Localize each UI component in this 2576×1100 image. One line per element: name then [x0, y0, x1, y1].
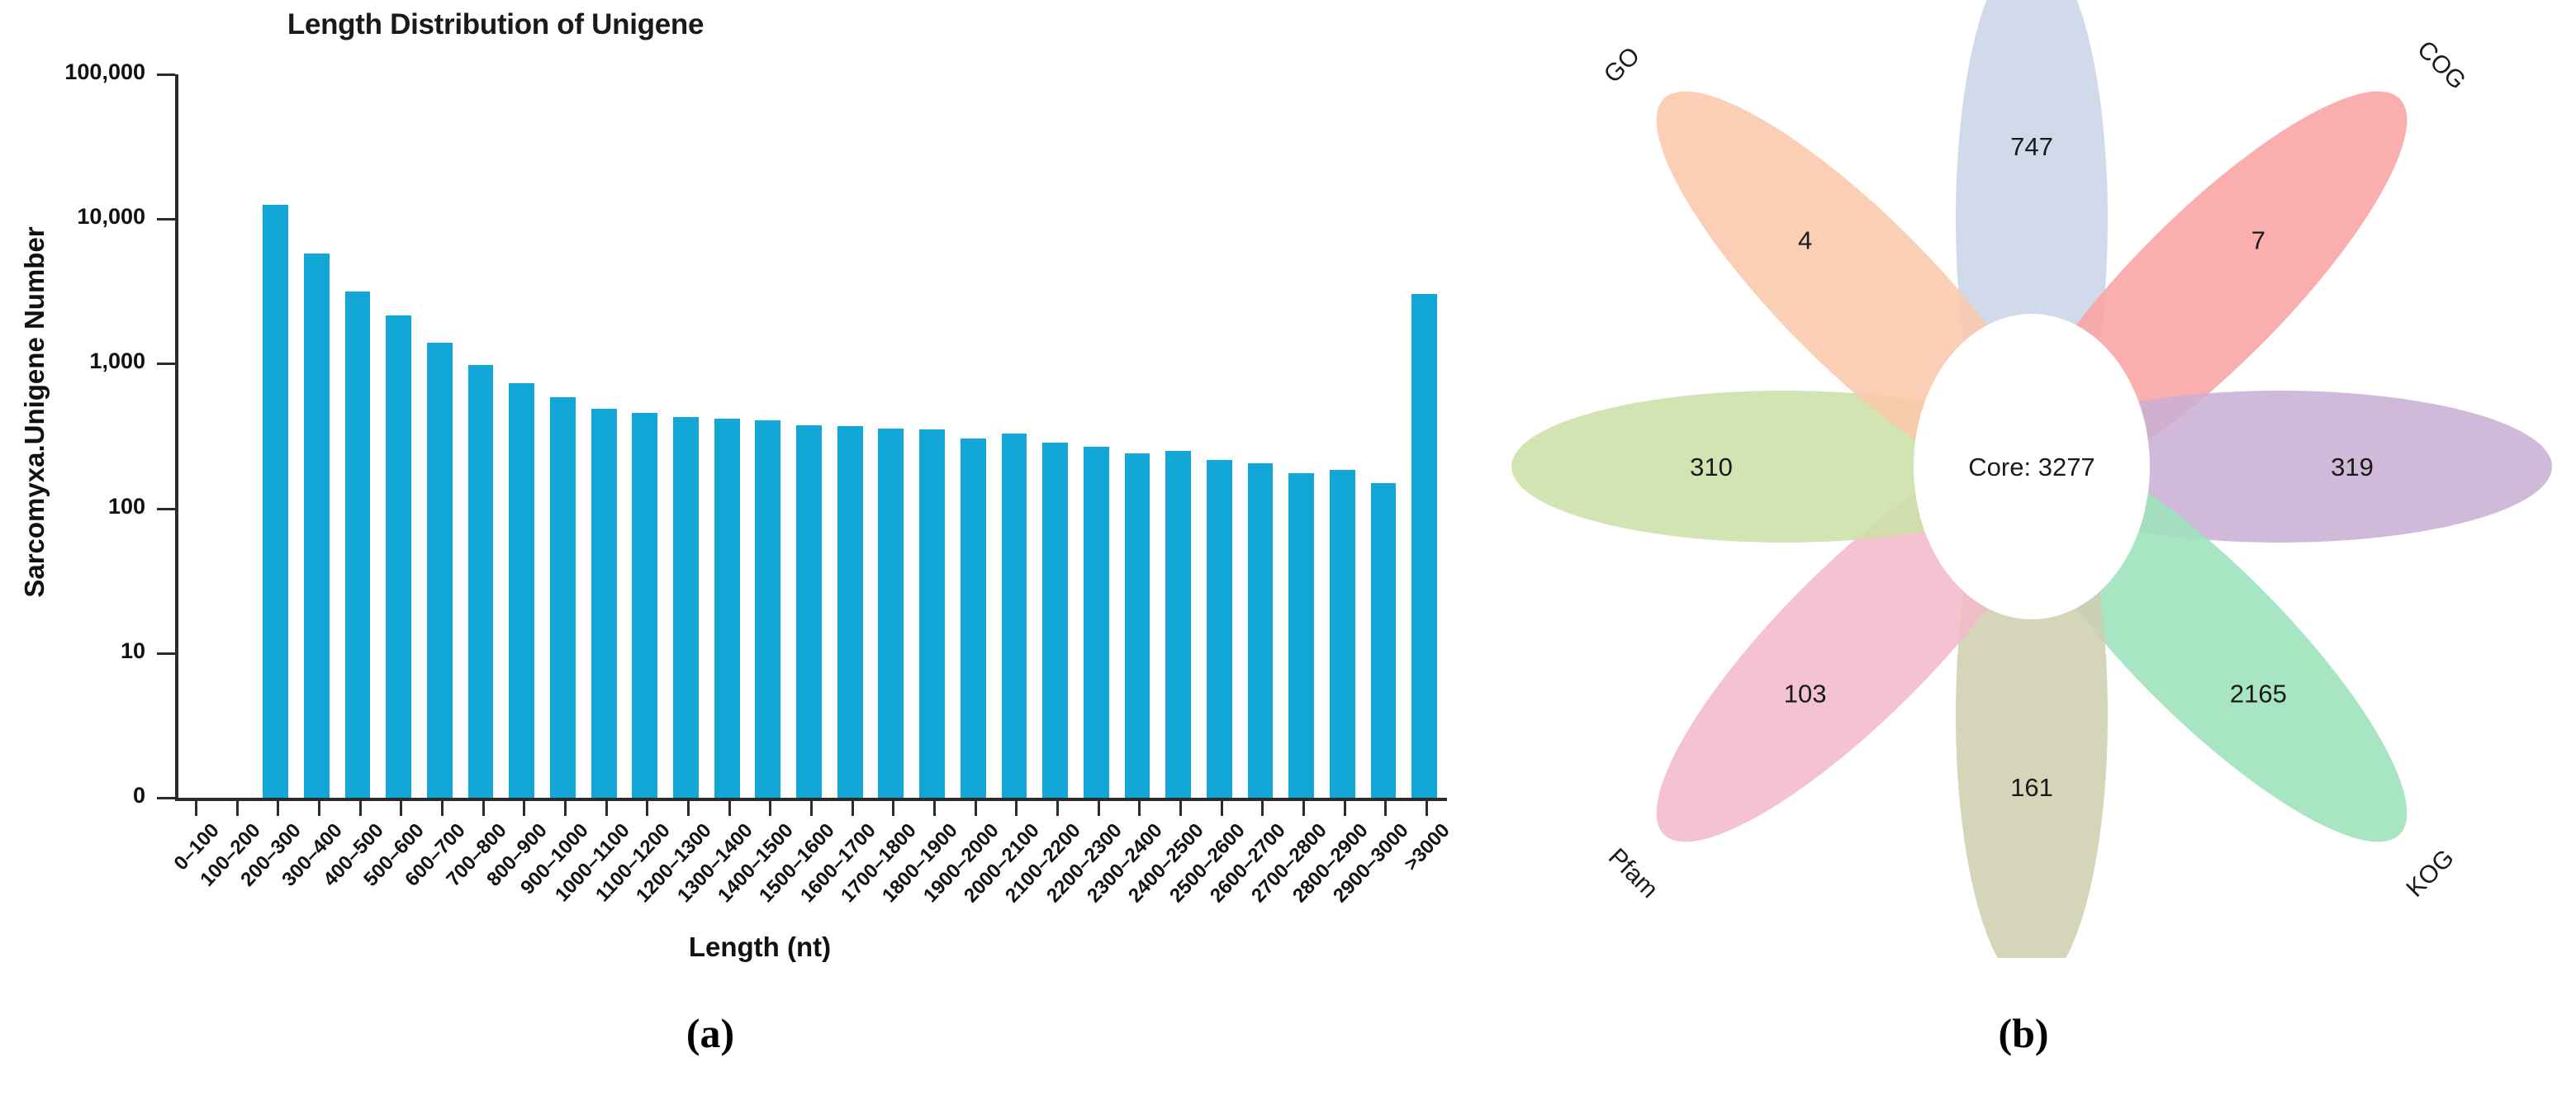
bar — [1042, 443, 1068, 798]
y-axis-tick — [157, 508, 175, 510]
bar-slot — [790, 74, 832, 798]
petal-count-kegg: 161 — [2010, 773, 2053, 802]
x-axis-title: Length (nt) — [116, 932, 1404, 963]
bar-slot — [216, 74, 258, 798]
bar — [304, 254, 330, 798]
x-axis-tick — [195, 801, 197, 816]
bar-slot — [1160, 74, 1201, 798]
bar-slot — [873, 74, 914, 798]
x-axis-tick — [1261, 801, 1264, 816]
bar — [468, 365, 494, 798]
bar-slot — [626, 74, 667, 798]
bar — [1002, 434, 1027, 798]
y-axis-tick-label: 100 — [0, 494, 145, 519]
x-axis-tick — [1179, 801, 1182, 816]
petal-count-pfam: 103 — [1784, 679, 1827, 708]
flower-venn-svg: Core: 3277 747NR7COG319Swissprot2165KOG1… — [1487, 0, 2576, 958]
bar — [427, 343, 453, 798]
bar-slot — [463, 74, 504, 798]
bar — [263, 205, 288, 798]
x-axis-tick — [482, 801, 485, 816]
core-group: Core: 3277 — [1914, 314, 2150, 619]
y-axis-tick — [157, 797, 175, 799]
bar-slot — [257, 74, 298, 798]
x-axis-tick — [564, 801, 567, 816]
y-axis-tick — [157, 218, 175, 220]
bar-slot — [709, 74, 750, 798]
bar — [386, 315, 411, 798]
petal-label-go: GO — [1599, 42, 1645, 88]
petal-count-eggnog: 310 — [1690, 453, 1733, 481]
x-axis-tick — [523, 801, 525, 816]
panel-a-caption: (a) — [628, 1009, 793, 1057]
bar — [1207, 460, 1232, 798]
bars-container — [175, 74, 1447, 798]
x-axis-tick — [1015, 801, 1018, 816]
bar — [1411, 294, 1437, 798]
y-axis-tick-label: 10 — [0, 638, 145, 664]
y-axis-tick — [157, 652, 175, 655]
x-axis-tick — [277, 801, 279, 816]
x-axis-tick — [852, 801, 854, 816]
petal-count-swissprot: 319 — [2331, 453, 2374, 481]
bar — [591, 409, 617, 798]
figure-container: Length Distribution of Unigene Sarcomyxa… — [0, 0, 2576, 1100]
x-axis-tick — [1056, 801, 1059, 816]
petal-label-cog: COG — [2412, 36, 2471, 95]
x-axis-tick — [1344, 801, 1346, 816]
x-axis-tick — [359, 801, 362, 816]
y-axis-title: Sarcomyxa.Unigene Number — [19, 181, 50, 643]
plot-area — [175, 74, 1447, 799]
bar-slot — [955, 74, 996, 798]
bar — [509, 383, 534, 798]
x-axis-tick — [1138, 801, 1141, 816]
bar — [878, 429, 904, 798]
x-axis-tick — [687, 801, 690, 816]
bar — [1248, 463, 1274, 798]
bar-slot — [339, 74, 381, 798]
bar-slot — [1037, 74, 1078, 798]
bar — [796, 425, 822, 798]
y-axis-tick-label: 10,000 — [0, 204, 145, 230]
bar — [919, 429, 945, 798]
petal-count-go: 4 — [1798, 226, 1812, 255]
bar — [550, 397, 576, 798]
bar — [673, 417, 699, 798]
bar — [345, 292, 371, 798]
bar — [961, 439, 986, 798]
x-axis-tick — [1221, 801, 1223, 816]
flower-diagram: Core: 3277 747NR7COG319Swissprot2165KOG1… — [1487, 0, 2576, 958]
x-axis-tick — [810, 801, 813, 816]
bar-slot — [1365, 74, 1407, 798]
bar-slot — [913, 74, 955, 798]
petal-label-pfam: Pfam — [1603, 843, 1663, 903]
x-axis-tick — [1384, 801, 1387, 816]
bar-slot — [380, 74, 421, 798]
bar-slot — [1242, 74, 1283, 798]
y-axis-tick — [157, 363, 175, 365]
bar-slot — [1283, 74, 1324, 798]
x-axis-tick — [1426, 801, 1428, 816]
panel-b-caption: (b) — [1941, 1009, 2106, 1057]
x-axis-tick — [1098, 801, 1100, 816]
x-axis-tick — [728, 801, 731, 816]
x-axis-tick — [892, 801, 894, 816]
petal-label-kog: KOG — [2401, 844, 2459, 902]
panel-a-bar-chart: Length Distribution of Unigene Sarcomyxa… — [0, 0, 1487, 1100]
bar — [1084, 447, 1109, 798]
x-axis-tick — [769, 801, 771, 816]
bar-slot — [544, 74, 586, 798]
x-axis-tick — [441, 801, 444, 816]
bar-slot — [1119, 74, 1160, 798]
petal-count-cog: 7 — [2251, 226, 2265, 255]
bar-slot — [1406, 74, 1447, 798]
x-axis-tick — [646, 801, 648, 816]
x-axis-tick — [318, 801, 320, 816]
bar-slot — [586, 74, 627, 798]
bar — [755, 420, 780, 798]
bar-slot — [175, 74, 216, 798]
bar-slot — [832, 74, 873, 798]
bar-slot — [503, 74, 544, 798]
panel-b-flower-venn: Core: 3277 747NR7COG319Swissprot2165KOG1… — [1487, 0, 2576, 1100]
x-axis-tick — [400, 801, 402, 816]
x-axis-tick — [236, 801, 239, 816]
bar-slot — [421, 74, 463, 798]
bar-slot — [996, 74, 1037, 798]
petal-count-kog: 2165 — [2230, 679, 2287, 708]
bar-slot — [749, 74, 790, 798]
x-axis-tick — [1302, 801, 1305, 816]
bar — [1330, 470, 1355, 798]
bar — [1371, 483, 1397, 798]
bar — [1165, 451, 1191, 798]
x-axis-tick — [933, 801, 936, 816]
petal-count-nr: 747 — [2010, 132, 2053, 161]
bar-slot — [1201, 74, 1242, 798]
y-axis-tick-label: 0 — [0, 783, 145, 808]
bar — [632, 413, 657, 798]
core-label: Core: 3277 — [1968, 453, 2094, 481]
bar-slot — [298, 74, 339, 798]
bar-slot — [1324, 74, 1365, 798]
bar-slot — [1078, 74, 1119, 798]
bar — [1288, 473, 1314, 798]
x-axis-tick — [605, 801, 608, 816]
bar-slot — [667, 74, 709, 798]
bar — [714, 419, 740, 798]
bar — [837, 426, 863, 798]
y-axis-tick — [157, 73, 175, 76]
y-axis-tick-label: 100,000 — [0, 59, 145, 85]
chart-title: Length Distribution of Unigene — [0, 8, 991, 41]
bar — [1125, 453, 1150, 798]
x-axis-tick — [975, 801, 977, 816]
y-axis-tick-label: 1,000 — [0, 348, 145, 374]
